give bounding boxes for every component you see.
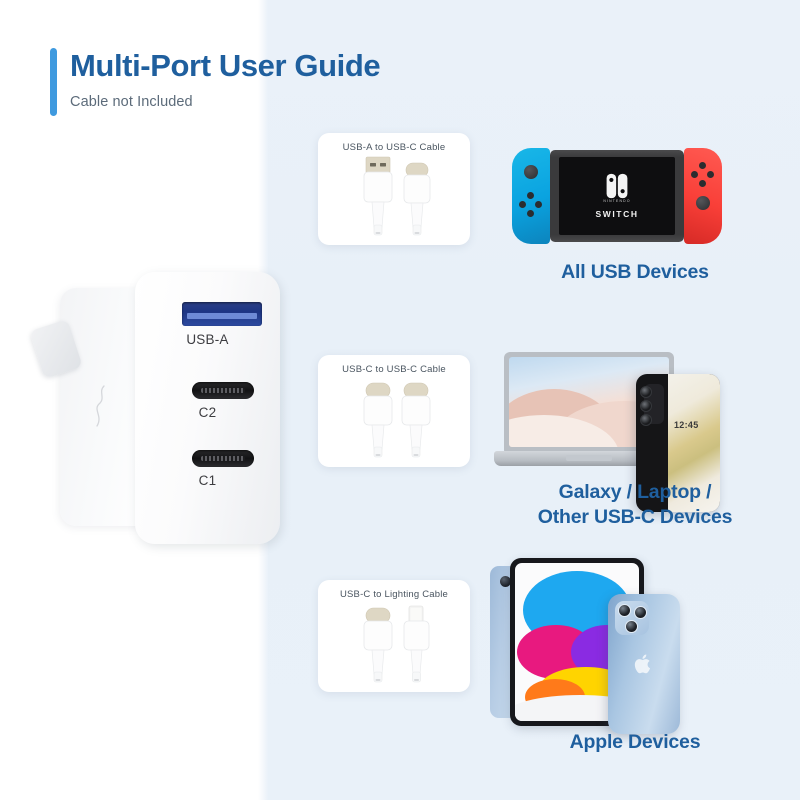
charger-port-usb-a-label: USB-A <box>135 332 280 347</box>
page-subtitle: Cable not Included <box>70 94 193 110</box>
joycon-left <box>512 148 550 244</box>
device-group-caption-all-usb-devices: All USB Devices <box>490 260 780 285</box>
charger-port-usb-a <box>182 302 262 326</box>
switch-screen: NINTENDO SWITCH <box>559 157 675 235</box>
joycon-right <box>684 148 722 244</box>
apple-logo-icon <box>634 652 654 676</box>
charger-port-c2-label: C2 <box>135 405 280 420</box>
usb-a-to-usb-c-cable-icon <box>344 155 444 239</box>
iphone-device <box>608 594 680 734</box>
joycon-left-dpad-up <box>527 192 534 199</box>
joycon-left-dpad-left <box>519 201 526 208</box>
charger-port-c2 <box>192 382 254 399</box>
joycon-right-button-x <box>699 162 706 169</box>
device-group-caption-usb-c-line-2: Other USB-C Devices <box>490 505 780 530</box>
galaxy-phone-clock: 12:45 <box>674 420 699 430</box>
nintendo-switch-device: NINTENDO SWITCH <box>512 148 722 244</box>
cable-card-usb-c-to-lightning: USB-C to Lighting Cable <box>318 580 470 692</box>
cable-card-title: USB-C to USB-C Cable <box>318 364 470 375</box>
header: Multi-Port User Guide Cable not Included <box>0 0 262 130</box>
charger-port-c1-label: C1 <box>135 473 280 488</box>
device-group-usb-c-devices: 12:45 Galaxy / Laptop / Other USB-C Devi… <box>490 352 780 542</box>
galaxy-phone-lens-3 <box>640 414 652 426</box>
joycon-left-stick <box>524 165 538 179</box>
title-accent-bar <box>50 48 57 116</box>
charger-port-c1 <box>192 450 254 467</box>
usb-c-to-usb-c-cable-icon <box>344 377 444 461</box>
cable-card-title: USB-C to Lighting Cable <box>318 589 470 600</box>
device-group-caption-usb-c-line-1: Galaxy / Laptop / <box>490 480 780 505</box>
switch-brand: SWITCH <box>595 209 638 219</box>
charger-brand-wave-icon <box>92 384 110 428</box>
iphone-lens-1 <box>618 604 631 617</box>
galaxy-phone-lens-2 <box>640 400 652 412</box>
iphone-lens-3 <box>625 620 638 633</box>
joycon-right-stick <box>696 196 710 210</box>
joycon-left-dpad-right <box>535 201 542 208</box>
laptop-trackpad <box>566 455 612 461</box>
device-group-caption-apple-devices: Apple Devices <box>490 730 780 755</box>
switch-screen-bezel: NINTENDO SWITCH <box>550 150 684 242</box>
page-title: Multi-Port User Guide <box>70 48 530 84</box>
joycon-left-dpad-down <box>527 210 534 217</box>
charger-illustration: USB-A C2 C1 <box>30 262 280 562</box>
switch-brand-small: NINTENDO <box>603 199 630 203</box>
usb-c-to-lightning-cable-icon <box>344 602 444 686</box>
iphone-lens-2 <box>634 606 647 619</box>
joycon-right-button-y <box>691 171 698 178</box>
galaxy-phone-lens-1 <box>640 386 652 398</box>
infographic-page: Multi-Port User Guide Cable not Included… <box>0 0 800 800</box>
joycon-right-button-a <box>707 171 714 178</box>
cable-card-title: USB-A to USB-C Cable <box>318 142 470 153</box>
cable-card-usb-c-to-usb-c: USB-C to USB-C Cable <box>318 355 470 467</box>
device-group-apple-devices: Apple Devices <box>490 552 780 767</box>
cable-card-usb-a-to-usb-c: USB-A to USB-C Cable <box>318 133 470 245</box>
device-group-all-usb-devices: NINTENDO SWITCH All USB Devices <box>490 148 780 298</box>
joycon-right-button-b <box>699 180 706 187</box>
nintendo-switch-logo-icon <box>604 173 630 199</box>
